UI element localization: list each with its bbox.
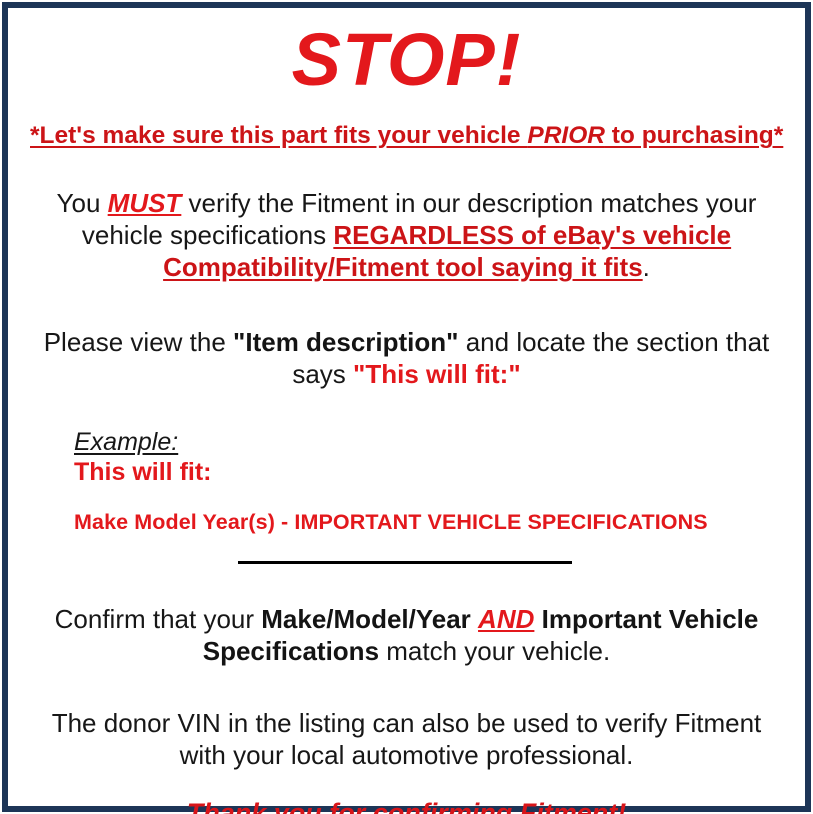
confirm-space-2	[534, 604, 541, 634]
emphasis-this-will-fit: "This will fit:"	[353, 359, 521, 389]
must-text-before: You	[57, 188, 108, 218]
emphasis-and: AND	[478, 604, 534, 634]
example-label: Example:	[74, 428, 783, 456]
confirm-text-after: match your vehicle.	[379, 636, 610, 666]
notice-content-area: STOP! *Let's make sure this part fits yo…	[16, 16, 797, 798]
desc-text-before: Please view the	[44, 327, 233, 357]
must-text-after: .	[643, 252, 650, 282]
emphasis-item-description: "Item description"	[233, 327, 458, 357]
emphasis-make-model-year: Make/Model/Year	[261, 604, 471, 634]
divider	[30, 557, 783, 569]
paragraph-donor-vin: The donor VIN in the listing can also be…	[30, 707, 783, 771]
confirm-space-1	[471, 604, 478, 634]
subtitle-text-after: to purchasing*	[605, 122, 783, 149]
paragraph-item-description: Please view the "Item description" and l…	[30, 326, 783, 390]
stop-heading: STOP!	[30, 22, 783, 97]
divider-rule	[238, 561, 572, 564]
closing-thank-you: Thank you for confirming Fitment!	[30, 797, 783, 814]
emphasis-must: MUST	[108, 188, 182, 218]
notice-outer-border: STOP! *Let's make sure this part fits yo…	[2, 2, 811, 812]
subtitle-text-before: *Let's make sure this part fits your veh…	[30, 122, 527, 149]
example-fit-header: This will fit:	[74, 458, 783, 488]
paragraph-confirm: Confirm that your Make/Model/Year AND Im…	[30, 603, 783, 667]
subtitle-emphasis-prior: PRIOR	[527, 122, 605, 149]
fitment-notice-page: STOP! *Let's make sure this part fits yo…	[0, 0, 813, 814]
confirm-text-before: Confirm that your	[55, 604, 262, 634]
example-block: Example: This will fit: Make Model Year(…	[30, 428, 783, 535]
example-spec-line: Make Model Year(s) - IMPORTANT VEHICLE S…	[74, 510, 783, 535]
paragraph-must-verify: You MUST verify the Fitment in our descr…	[30, 187, 783, 284]
subtitle-banner: *Let's make sure this part fits your veh…	[30, 121, 783, 150]
